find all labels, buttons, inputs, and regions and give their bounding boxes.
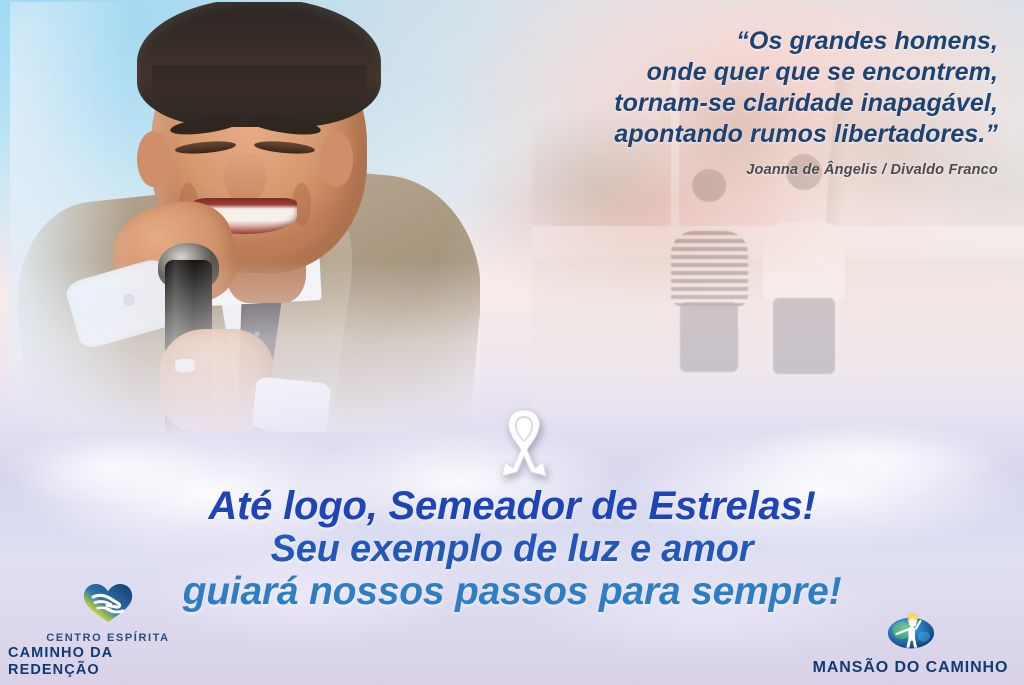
quote-line-1: “Os grandes homens, [438, 26, 998, 57]
heart-hands-logo-icon [82, 583, 134, 629]
hair [137, 2, 381, 127]
quote-line-4: apontando rumos libertadores.” [438, 119, 998, 150]
ear-left [137, 131, 170, 187]
quote-line-2: onde quer que se encontrem, [438, 57, 998, 88]
headline-line-1: Até logo, Semeador de Estrelas! [0, 484, 1024, 528]
nose [224, 153, 266, 205]
logo-right-line-1: MANSÃO DO CAMINHO [813, 658, 1009, 677]
logo-left-line-2: CAMINHO DA REDENÇÃO [8, 645, 208, 679]
quote-line-3: tornam-se claridade inapagável, [438, 88, 998, 119]
quote-block: “Os grandes homens, onde quer que se enc… [438, 26, 998, 178]
logo-mansao-do-caminho: MANSÃO DO CAMINHO [803, 610, 1018, 677]
headline-line-2: Seu exemplo de luz e amor [0, 528, 1024, 570]
portrait-photo [10, 2, 480, 432]
memorial-poster: “Os grandes homens, onde quer que se enc… [0, 0, 1024, 685]
logo-centro-espirita-caminho-da-redencao: CENTRO ESPÍRITA CAMINHO DA REDENÇÃO [8, 583, 208, 679]
mourning-ribbon-icon [493, 406, 555, 484]
quote-attribution: Joanna de Ângelis / Divaldo Franco [438, 162, 998, 178]
background-person-white-shirt [763, 154, 845, 353]
logo-left-line-1: CENTRO ESPÍRITA [46, 631, 169, 645]
globe-figure-logo-icon [886, 610, 936, 656]
ear-right [320, 131, 353, 187]
background-person-striped-shirt [671, 169, 748, 354]
